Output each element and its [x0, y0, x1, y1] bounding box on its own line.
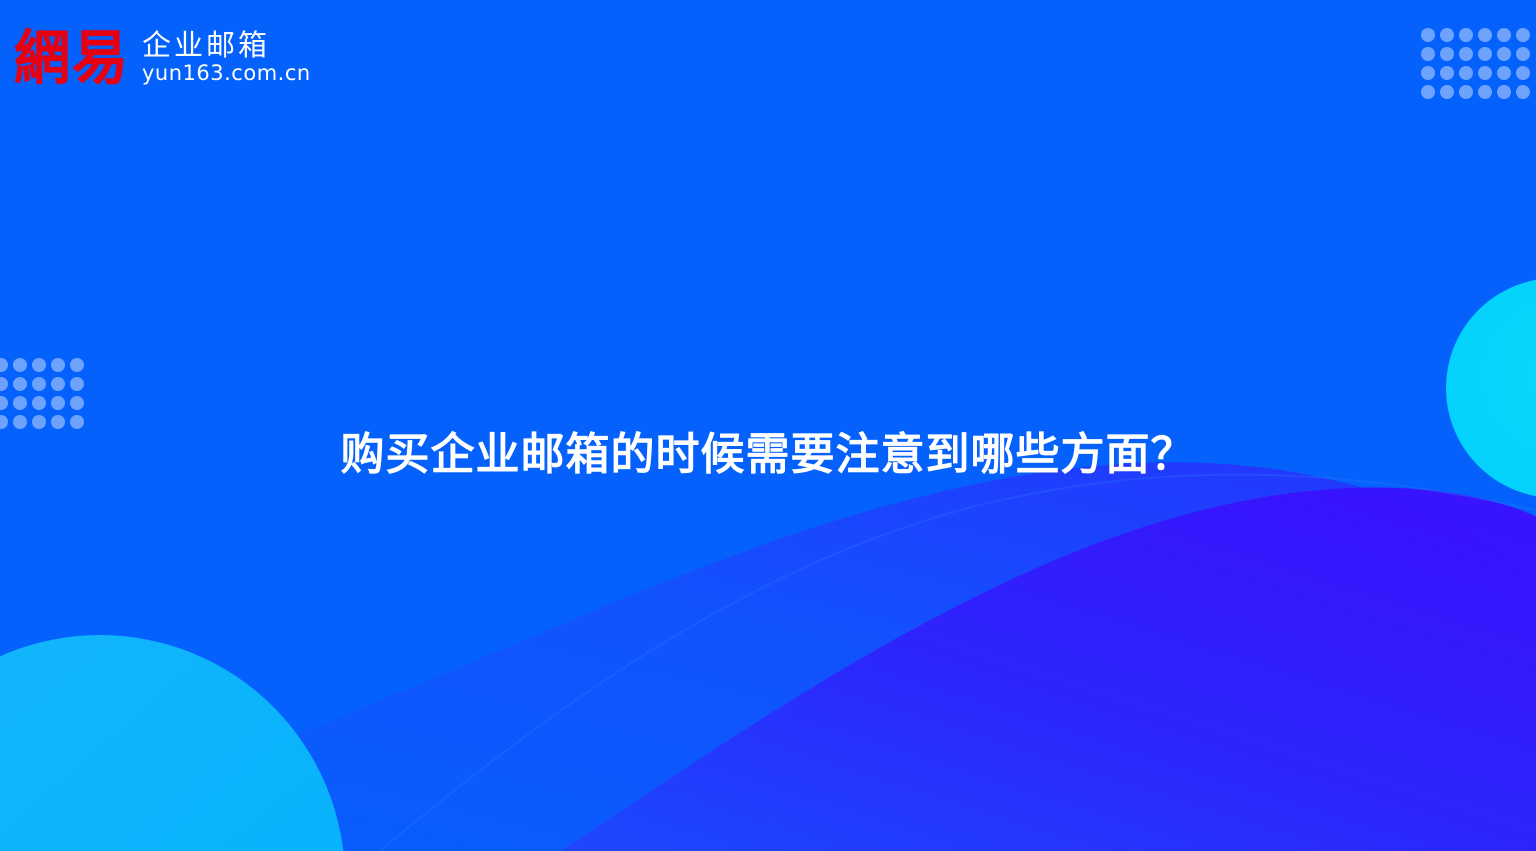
logo-domain: yun163.com.cn — [142, 62, 311, 84]
decor-dot — [1516, 66, 1530, 80]
decor-dot — [1459, 28, 1473, 42]
decor-dot — [1516, 47, 1530, 61]
decor-dot — [1516, 28, 1530, 42]
decor-dot — [1478, 66, 1492, 80]
wave-highlight — [380, 475, 1536, 851]
decor-dot — [1421, 47, 1435, 61]
slide-canvas: 網易 企业邮箱 yun163.com.cn 购买企业邮箱的时候需要注意到哪些方面… — [0, 0, 1536, 851]
decor-dot — [51, 396, 65, 410]
decor-dot — [1497, 66, 1511, 80]
decor-dot — [1478, 85, 1492, 99]
decor-dot — [51, 377, 65, 391]
background-shapes-svg — [0, 0, 1536, 851]
decor-dot — [1440, 28, 1454, 42]
decor-dot — [1478, 28, 1492, 42]
decor-dot — [1478, 47, 1492, 61]
decor-dot — [1440, 85, 1454, 99]
decor-dot-grid-left-middle — [0, 358, 89, 434]
wave-shape-purple — [560, 487, 1536, 851]
page-title: 购买企业邮箱的时候需要注意到哪些方面？ — [0, 427, 1536, 482]
decor-dot — [1440, 47, 1454, 61]
decor-dot — [0, 377, 8, 391]
decor-dot — [1459, 66, 1473, 80]
background-decoration — [0, 0, 1536, 851]
decor-dot — [1497, 28, 1511, 42]
brand-logo[interactable]: 網易 企业邮箱 yun163.com.cn — [14, 30, 311, 86]
decor-dot — [1497, 85, 1511, 99]
decor-dot — [70, 358, 84, 372]
decor-dot — [13, 396, 27, 410]
decor-dot-grid-top-right — [1421, 28, 1535, 104]
decor-dot — [32, 377, 46, 391]
decor-dot — [0, 358, 8, 372]
decor-dot — [70, 377, 84, 391]
decor-dot — [13, 377, 27, 391]
decor-dot — [70, 396, 84, 410]
decor-circle-cyan-bottom-left — [0, 635, 345, 851]
logo-text-block: 企业邮箱 yun163.com.cn — [142, 30, 311, 86]
netease-wordmark: 網易 — [14, 29, 130, 88]
decor-dot — [1421, 28, 1435, 42]
wave-shape-blue — [0, 462, 1536, 851]
decor-dot — [13, 358, 27, 372]
decor-dot — [1497, 47, 1511, 61]
decor-dot — [1516, 85, 1530, 99]
logo-product-name: 企业邮箱 — [142, 30, 311, 60]
decor-dot — [1421, 85, 1435, 99]
decor-dot — [32, 396, 46, 410]
decor-dot — [0, 396, 8, 410]
decor-dot — [1459, 85, 1473, 99]
decor-dot — [1421, 66, 1435, 80]
decor-dot — [1459, 47, 1473, 61]
decor-dot — [32, 358, 46, 372]
decor-dot — [51, 358, 65, 372]
background-base — [0, 0, 1536, 851]
decor-dot — [1440, 66, 1454, 80]
